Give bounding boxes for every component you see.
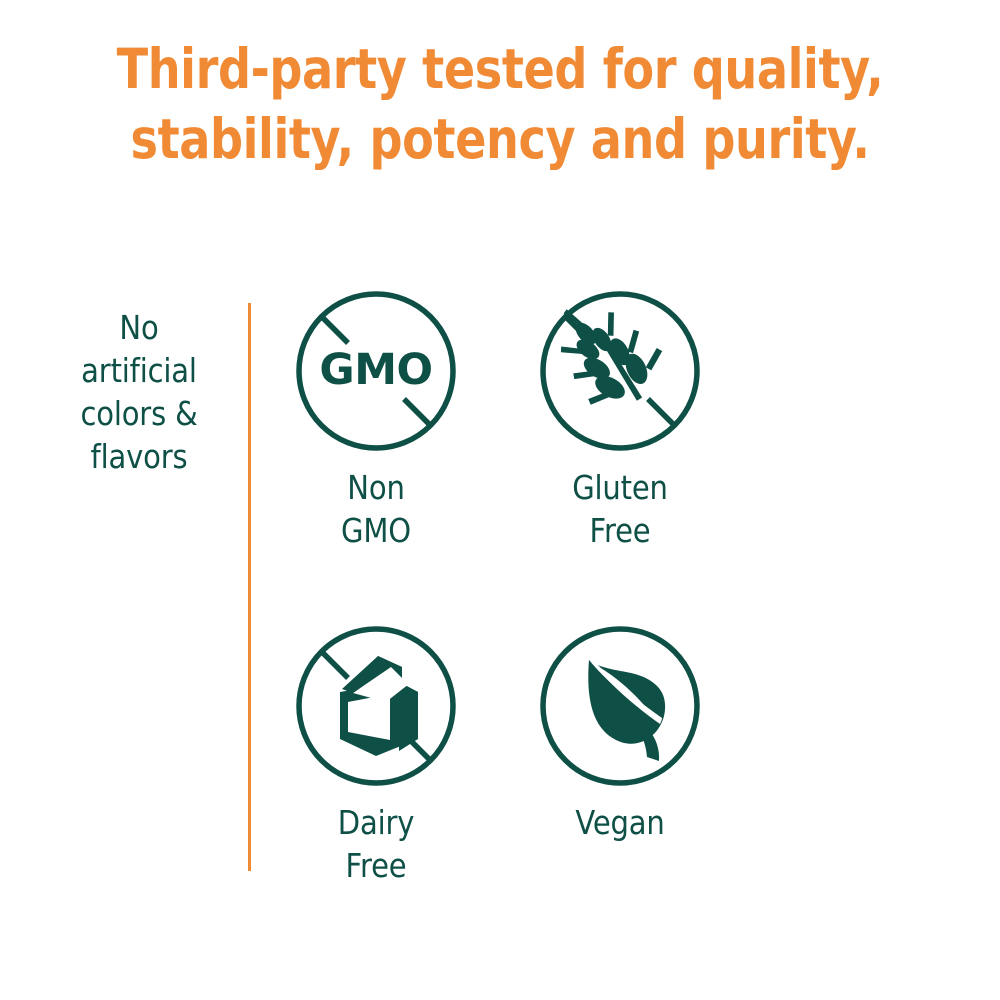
gmo-text: GMO bbox=[319, 345, 432, 395]
milk-carton-icon bbox=[290, 620, 462, 792]
claims-panel: Third-party tested for quality, stabilit… bbox=[0, 0, 1000, 1000]
no-artificial-colors-flavors-note: No artificial colors & flavors bbox=[57, 307, 221, 479]
badge-dairy-free: Dairy Free bbox=[290, 620, 462, 888]
non-gmo-icon: GMO bbox=[290, 285, 462, 457]
leaf-icon bbox=[534, 620, 706, 792]
badge-label: Dairy Free bbox=[300, 802, 451, 888]
badge-label: Vegan bbox=[544, 802, 695, 845]
badge-non-gmo: GMO Non GMO bbox=[290, 285, 462, 553]
orange-vertical-divider bbox=[248, 303, 251, 871]
certification-badge-grid: GMO Non GMO bbox=[290, 285, 790, 915]
badge-vegan: Vegan bbox=[534, 620, 706, 845]
badge-gluten-free: Gluten Free bbox=[534, 285, 706, 553]
page-title: Third-party tested for quality, stabilit… bbox=[80, 34, 920, 175]
wheat-icon bbox=[534, 285, 706, 457]
badge-label: Non GMO bbox=[300, 467, 451, 553]
badge-label: Gluten Free bbox=[544, 467, 695, 553]
